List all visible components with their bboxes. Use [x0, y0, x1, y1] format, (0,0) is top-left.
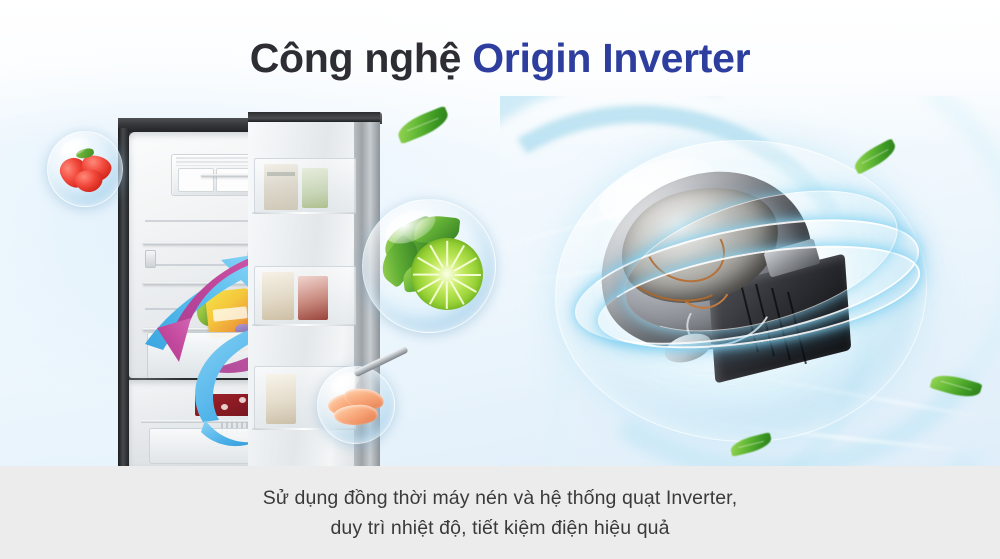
door-item-1-stripe: [267, 172, 295, 176]
caption-line-2: duy trì nhiệt độ, tiết kiệm điện hiệu qu…: [0, 513, 1000, 543]
promo-banner: Công nghệ Origin Inverter Sử dụng đồng t…: [0, 0, 1000, 559]
salmon-bubble: [317, 366, 395, 444]
lime-mint-bubble: [362, 199, 496, 333]
strawberry-bubble: [47, 131, 123, 207]
lime-core: [439, 266, 455, 282]
door-rail-2: [252, 324, 356, 326]
door-item-4: [298, 276, 328, 320]
door-item-5: [266, 374, 296, 424]
door-item-3: [262, 272, 294, 320]
door-item-2: [302, 168, 328, 208]
door-top-hinge: [248, 112, 380, 122]
caption-line-1: Sử dụng đồng thời máy nén và hệ thống qu…: [0, 483, 1000, 513]
door-item-1: [264, 164, 298, 210]
title-blue-text: Origin Inverter: [472, 35, 750, 81]
strawberry-3: [74, 169, 104, 194]
airflow-loop-cool-tail: [201, 420, 255, 446]
door-rail-1: [252, 212, 356, 214]
page-title: Công nghệ Origin Inverter: [0, 33, 1000, 84]
title-dark-text: Công nghệ: [250, 35, 461, 81]
hero-image: Công nghệ Origin Inverter: [0, 0, 1000, 466]
caption-block: Sử dụng đồng thời máy nén và hệ thống qu…: [0, 466, 1000, 559]
lime-slice: [411, 238, 483, 310]
